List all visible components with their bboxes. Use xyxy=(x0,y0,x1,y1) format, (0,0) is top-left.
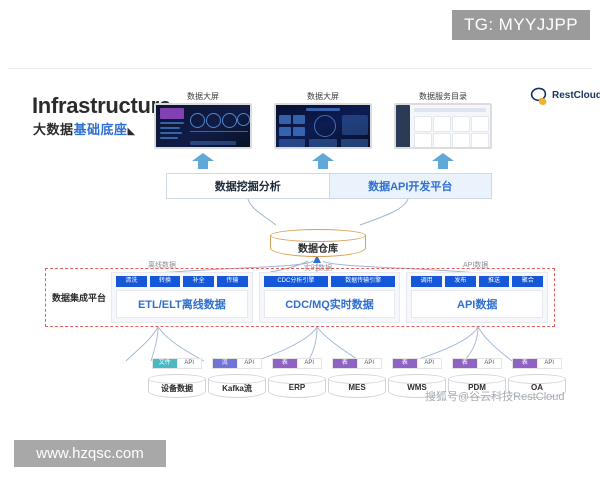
source-cylinder: MES xyxy=(328,374,386,400)
chip-invoke[interactable]: 调用 xyxy=(411,276,442,287)
up-arrow-icon-2 xyxy=(432,153,454,169)
logo-text: RestCloud xyxy=(552,90,600,101)
integration-column-api[interactable]: 调用 发布 推送 聚合 API数据 xyxy=(406,272,548,323)
thumbnail-screen xyxy=(154,103,252,149)
sohu-watermark: 搜狐号@谷云科技RestCloud xyxy=(425,389,595,405)
platform-box-api[interactable]: 数据API开发平台 xyxy=(329,174,492,198)
thumbnail-screen xyxy=(274,103,372,149)
chip-transform[interactable]: 转换 xyxy=(150,276,181,287)
chip-aggregate[interactable]: 聚合 xyxy=(512,276,543,287)
integration-column-cdc[interactable]: CDC分析引擎 数据传输引擎 CDC/MQ实时数据 xyxy=(259,272,401,323)
chip-cdc-engine[interactable]: CDC分析引擎 xyxy=(264,276,328,287)
thumbnail-card-2[interactable]: 数据服务目录 xyxy=(394,91,492,151)
data-warehouse-node[interactable]: 数据仓库 xyxy=(270,229,366,261)
source-label: ERP xyxy=(268,383,326,392)
slide-canvas: TG: MYYJJPP Infrastructure 大数据基础底座◣ Rest… xyxy=(0,0,600,480)
source-tags: 表 API xyxy=(332,358,382,369)
subtitle-tick-icon: ◣ xyxy=(128,126,136,137)
telegram-watermark: TG: MYYJJPP xyxy=(452,10,590,40)
source-api-tag: API xyxy=(537,359,562,368)
integration-column-title: API数据 xyxy=(411,290,543,318)
source-type-tag: 表 xyxy=(393,359,417,368)
thumbnail-screen xyxy=(394,103,492,149)
source-type-tag: 表 xyxy=(273,359,297,368)
data-warehouse-label: 数据仓库 xyxy=(270,240,366,255)
thumbnail-caption: 数据大屏 xyxy=(154,91,252,102)
subtitle-highlight: 基础底座 xyxy=(74,122,128,137)
platform-box-row: 数据挖掘分析 数据API开发平台 xyxy=(166,173,492,199)
chip-row: 调用 发布 推送 聚合 xyxy=(411,276,543,287)
chip-clean[interactable]: 清洗 xyxy=(116,276,147,287)
chip-push[interactable]: 推送 xyxy=(479,276,510,287)
up-arrow-icon-0 xyxy=(192,153,214,169)
source-label: MES xyxy=(328,383,386,392)
thumbnail-card-0[interactable]: 数据大屏 xyxy=(154,91,252,151)
chip-row: 清洗 转换 补全 传输 xyxy=(116,276,248,287)
source-tags: 文件 API xyxy=(152,358,202,369)
source-api-tag: API xyxy=(417,359,442,368)
integration-column-title: CDC/MQ实时数据 xyxy=(264,290,396,318)
cloud-icon xyxy=(526,85,550,107)
chip-publish[interactable]: 发布 xyxy=(445,276,476,287)
chip-transfer-engine[interactable]: 数据传输引擎 xyxy=(331,276,395,287)
source-tags: 表 API xyxy=(512,358,562,369)
infrastructure-slide: Infrastructure 大数据基础底座◣ RestCloud xyxy=(8,68,592,424)
source-label: Kafka流 xyxy=(208,383,266,394)
chip-complete[interactable]: 补全 xyxy=(183,276,214,287)
source-type-tag: 表 xyxy=(453,359,477,368)
integration-column-etl[interactable]: 清洗 转换 补全 传输 ETL/ELT离线数据 xyxy=(111,272,253,323)
integration-columns: 清洗 转换 补全 传输 ETL/ELT离线数据 CDC分析引擎 数据传输引擎 C… xyxy=(111,272,548,323)
up-arrow-icon-1 xyxy=(312,153,334,169)
subtitle-plain: 大数据 xyxy=(33,122,74,137)
source-cylinder: ERP xyxy=(268,374,326,400)
source-api-tag: API xyxy=(177,359,202,368)
page-subtitle: 大数据基础底座◣ xyxy=(33,119,136,138)
integration-column-title: ETL/ELT离线数据 xyxy=(116,290,248,318)
source-tags: 表 API xyxy=(272,358,322,369)
source-api-tag: API xyxy=(477,359,502,368)
source-api-tag: API xyxy=(297,359,322,368)
source-cylinder: 设备数据 xyxy=(148,374,206,400)
source-tags: 表 API xyxy=(392,358,442,369)
source-tags: 流 API xyxy=(212,358,262,369)
thumbnail-caption: 数据大屏 xyxy=(274,91,372,102)
source-api-tag: API xyxy=(357,359,382,368)
source-type-tag: 文件 xyxy=(153,359,177,368)
source-type-tag: 流 xyxy=(213,359,237,368)
page-title: Infrastructure xyxy=(32,93,171,119)
thumbnail-caption: 数据服务目录 xyxy=(394,91,492,102)
source-type-tag: 表 xyxy=(513,359,537,368)
chip-row: CDC分析引擎 数据传输引擎 xyxy=(264,276,396,287)
thumbnail-card-1[interactable]: 数据大屏 xyxy=(274,91,372,151)
source-label: 设备数据 xyxy=(148,383,206,394)
source-tags: 表 API xyxy=(452,358,502,369)
source-api-tag: API xyxy=(237,359,262,368)
platform-box-mining[interactable]: 数据挖掘分析 xyxy=(167,174,329,198)
source-type-tag: 表 xyxy=(333,359,357,368)
chip-transfer[interactable]: 传输 xyxy=(217,276,248,287)
integration-platform-label: 数据集成平台 xyxy=(52,291,106,304)
restcloud-logo: RestCloud xyxy=(526,85,598,109)
source-cylinder: Kafka流 xyxy=(208,374,266,400)
site-watermark: www.hzqsc.com xyxy=(14,440,166,467)
